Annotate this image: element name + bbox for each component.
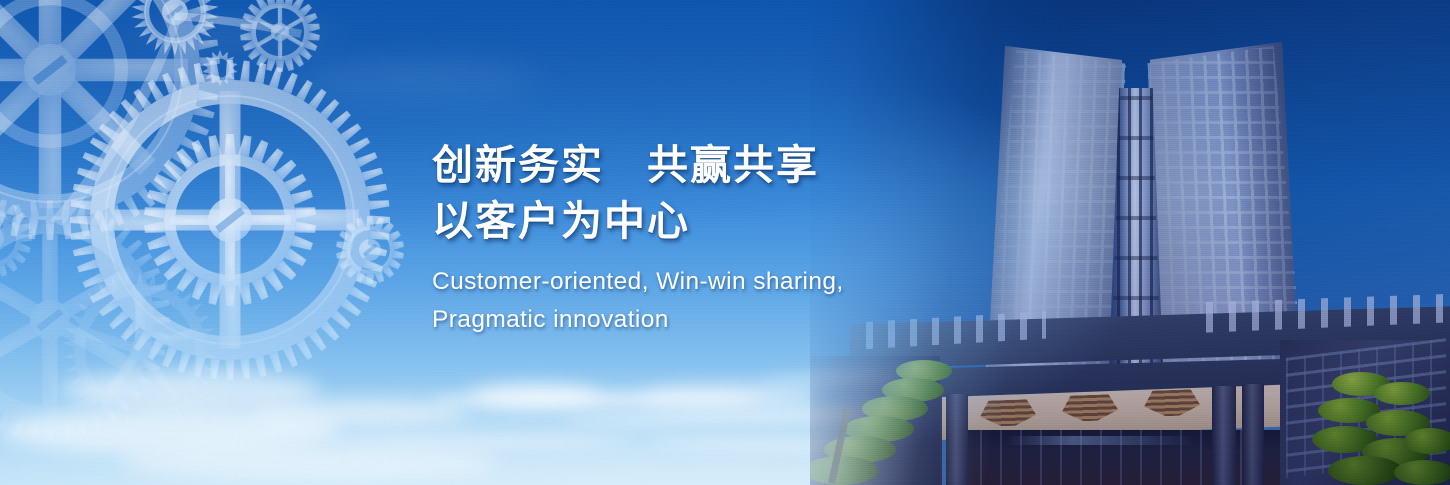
company-culture-banner: 创新务实 共赢共享 以客户为中心 Customer-oriented, Win-… bbox=[0, 0, 1450, 485]
headline-cn-line-1: 创新务实 共赢共享 bbox=[432, 140, 844, 192]
headline-cn-line-2: 以客户为中心 bbox=[432, 196, 844, 248]
subhead-en-line-1: Customer-oriented, Win-win sharing, bbox=[432, 263, 844, 300]
banner-copy: 创新务实 共赢共享 以客户为中心 Customer-oriented, Win-… bbox=[432, 140, 844, 338]
photo-atmos-haze bbox=[810, 0, 1450, 485]
building-photograph bbox=[810, 0, 1450, 485]
subhead-en-line-2: Pragmatic innovation bbox=[432, 301, 844, 338]
